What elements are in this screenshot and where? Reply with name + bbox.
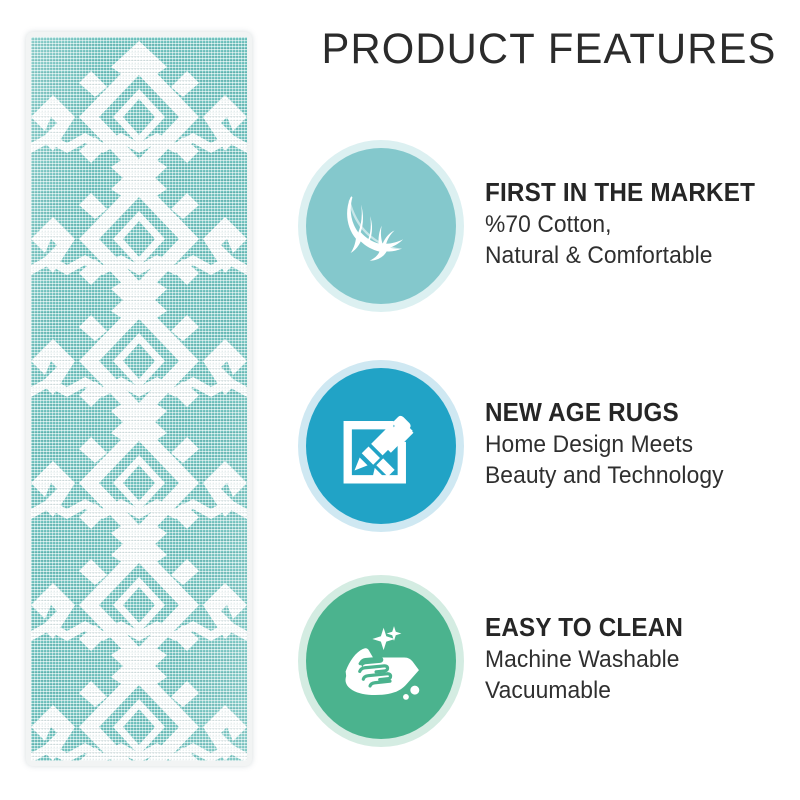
- feature-line-2-1: Home Design Meets: [485, 429, 784, 460]
- feature-badge-3: [298, 575, 464, 747]
- features-column: PRODUCT FEATURES FIRST IN THE MARKET %70…: [290, 0, 800, 800]
- hand-wiping-cloth-icon: [329, 609, 433, 713]
- feature-line-3-2: Vacuumable: [485, 675, 784, 706]
- pen-and-brush-icon: [329, 394, 433, 498]
- feature-item-first-in-the-market: FIRST IN THE MARKET %70 Cotton, Natural …: [290, 138, 800, 313]
- feature-line-1-1: %70 Cotton,: [485, 209, 784, 240]
- feature-text-2: NEW AGE RUGS Home Design Meets Beauty an…: [464, 398, 800, 493]
- feature-title-3: EASY TO CLEAN: [485, 613, 784, 644]
- feature-badge-1: [298, 140, 464, 312]
- product-image-rug: [26, 32, 252, 766]
- feature-line-2-2: Beauty and Technology: [485, 460, 784, 491]
- feature-badge-2: [298, 360, 464, 532]
- feature-item-new-age-rugs: NEW AGE RUGS Home Design Meets Beauty an…: [290, 358, 800, 533]
- feather-icon: [329, 174, 433, 278]
- page-title: PRODUCT FEATURES: [315, 26, 783, 72]
- feature-title-1: FIRST IN THE MARKET: [485, 178, 784, 209]
- feature-item-easy-to-clean: EASY TO CLEAN Machine Washable Vacuumabl…: [290, 573, 800, 748]
- feature-title-2: NEW AGE RUGS: [485, 398, 784, 429]
- product-features-infographic: PRODUCT FEATURES FIRST IN THE MARKET %70…: [0, 0, 800, 800]
- rug-kilim-pattern: [31, 37, 247, 761]
- feature-text-3: EASY TO CLEAN Machine Washable Vacuumabl…: [464, 613, 800, 708]
- feature-line-3-1: Machine Washable: [485, 644, 784, 675]
- feature-line-1-2: Natural & Comfortable: [485, 240, 784, 271]
- feature-text-1: FIRST IN THE MARKET %70 Cotton, Natural …: [464, 178, 800, 273]
- rug-surface: [31, 37, 247, 761]
